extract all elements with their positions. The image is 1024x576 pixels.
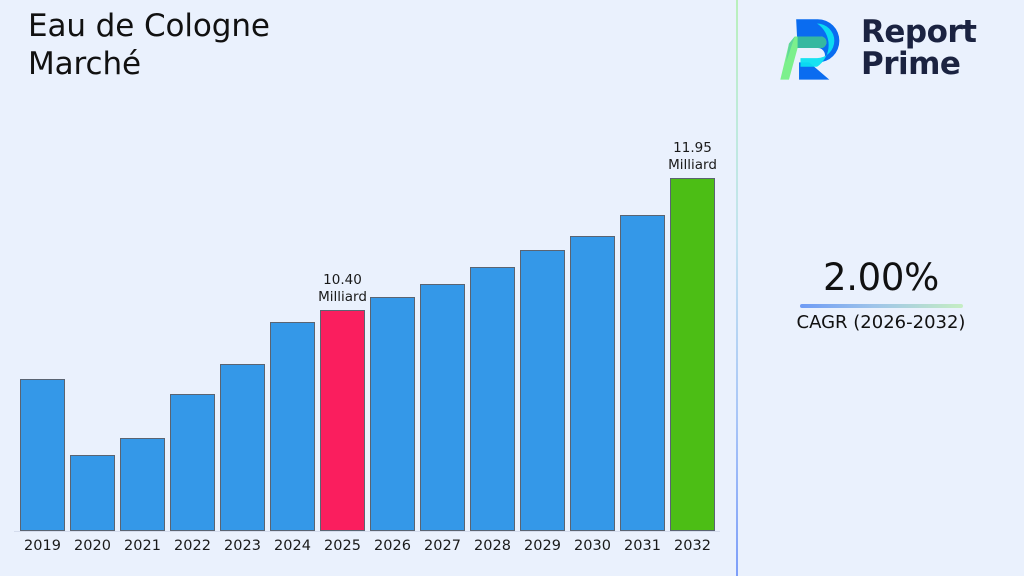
bar-2023: [220, 364, 265, 531]
x-tick-2029: 2029: [518, 538, 568, 554]
chart-panel: Eau de Cologne Marché 10.40 Milliard11.9…: [0, 0, 736, 576]
x-tick-2026: 2026: [368, 538, 418, 554]
bar-2030: [570, 236, 615, 531]
bar-2031: [620, 215, 665, 531]
bar-2022: [170, 394, 215, 531]
x-tick-2032: 2032: [668, 538, 718, 554]
bar-2024: [270, 322, 315, 531]
x-tick-2025: 2025: [318, 538, 368, 554]
bar-2026: [370, 297, 415, 531]
cagr-divider-rule: [800, 304, 963, 308]
x-tick-2030: 2030: [568, 538, 618, 554]
cagr-caption: CAGR (2026-2032): [738, 312, 1024, 334]
bar-2032: [670, 178, 715, 531]
x-tick-2031: 2031: [618, 538, 668, 554]
bar-value-label-2025: 10.40 Milliard: [298, 272, 388, 305]
report-prime-logo-icon: [776, 12, 848, 84]
summary-panel: Report Prime 2.00% CAGR (2026-2032): [738, 0, 1024, 576]
cagr-value: 2.00%: [738, 258, 1024, 299]
brand-logo: Report Prime: [776, 12, 977, 84]
x-tick-2020: 2020: [68, 538, 118, 554]
x-tick-2027: 2027: [418, 538, 468, 554]
bar-2019: [20, 379, 65, 531]
x-tick-2021: 2021: [118, 538, 168, 554]
x-tick-2022: 2022: [168, 538, 218, 554]
bar-chart: 10.40 Milliard11.95 Milliard 20192020202…: [0, 0, 736, 576]
x-tick-2019: 2019: [18, 538, 68, 554]
bar-2025: [320, 310, 365, 531]
x-tick-2024: 2024: [268, 538, 318, 554]
bar-2028: [470, 267, 515, 531]
x-tick-2023: 2023: [218, 538, 268, 554]
x-tick-2028: 2028: [468, 538, 518, 554]
infographic-root: Eau de Cologne Marché 10.40 Milliard11.9…: [0, 0, 1024, 576]
bar-2020: [70, 455, 115, 531]
bar-value-label-2032: 11.95 Milliard: [648, 140, 738, 173]
bar-2029: [520, 250, 565, 531]
bar-2027: [420, 284, 465, 531]
cagr-block: 2.00% CAGR (2026-2032): [738, 258, 1024, 333]
bar-2021: [120, 438, 165, 531]
brand-wordmark: Report Prime: [861, 16, 977, 80]
x-axis-line: [14, 531, 720, 532]
